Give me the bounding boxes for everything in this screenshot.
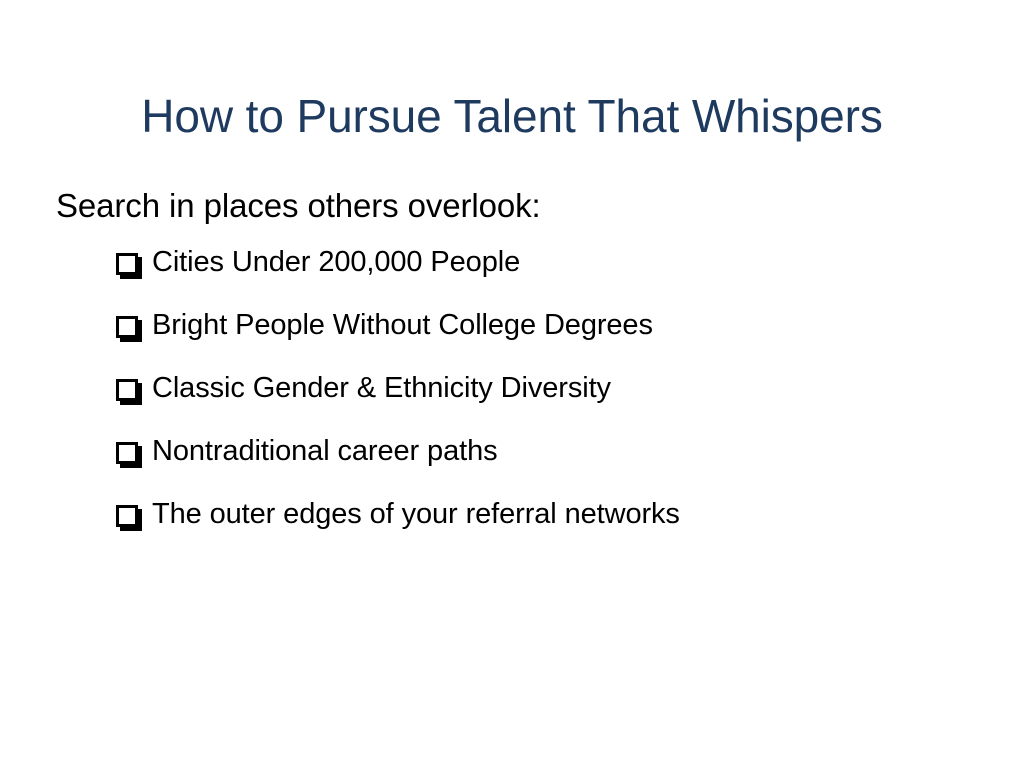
page-title: How to Pursue Talent That Whispers [0,91,1024,143]
list-item-label: Cities Under 200,000 People [152,248,520,277]
list-item: Cities Under 200,000 People [56,248,976,277]
lead-line: Search in places others overlook: [56,186,976,226]
shadowed-square-bullet-icon [116,316,138,338]
shadowed-square-bullet-icon [116,253,138,275]
shadowed-square-bullet-icon [116,442,138,464]
bullet-list: Cities Under 200,000 People Bright Peopl… [56,248,976,529]
list-item-label: Classic Gender & Ethnicity Diversity [152,374,611,403]
list-item: Nontraditional career paths [56,437,976,466]
list-item-label: Nontraditional career paths [152,437,498,466]
slide-canvas: How to Pursue Talent That Whispers Searc… [0,0,1024,768]
list-item-label: Bright People Without College Degrees [152,311,653,340]
list-item-label: The outer edges of your referral network… [152,500,680,529]
list-item: Bright People Without College Degrees [56,311,976,340]
list-item: The outer edges of your referral network… [56,500,976,529]
shadowed-square-bullet-icon [116,505,138,527]
shadowed-square-bullet-icon [116,379,138,401]
list-item: Classic Gender & Ethnicity Diversity [56,374,976,403]
slide-body: Search in places others overlook: Cities… [56,186,976,529]
